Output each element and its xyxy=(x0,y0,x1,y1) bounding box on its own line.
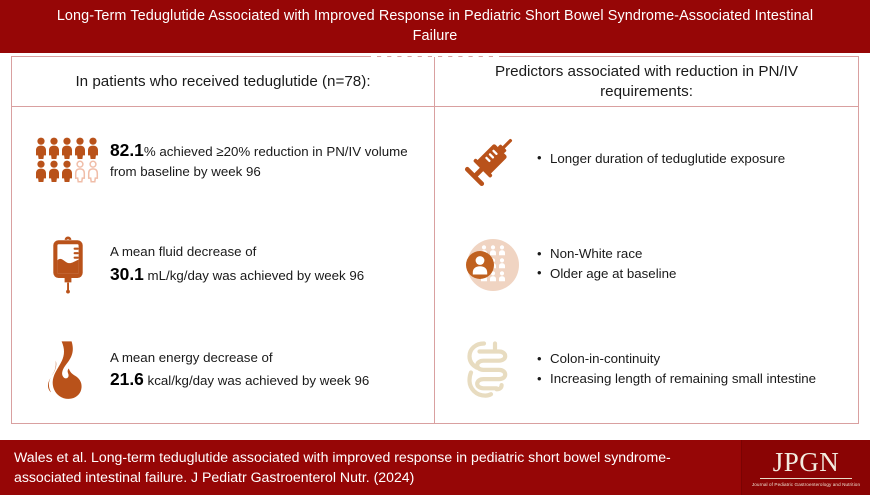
right-row-demographics-text: Non-White race Older age at baseline xyxy=(533,245,848,285)
intestine-icon xyxy=(449,339,533,401)
jpgn-logo-rule xyxy=(760,478,852,479)
right-row-demographics: Non-White race Older age at baseline xyxy=(435,212,858,317)
syringe-icon xyxy=(449,129,533,191)
right-row-duration: Longer duration of teduglutide exposure xyxy=(435,107,858,212)
right-column: Predictors associated with reduction in … xyxy=(435,57,858,423)
right-row-duration-text: Longer duration of teduglutide exposure xyxy=(533,150,848,170)
left-row-energy: A mean energy decrease of 21.6 kcal/kg/d… xyxy=(12,318,434,423)
content-panel: In patients who received teduglutide (n=… xyxy=(11,56,859,424)
left-row-energy-text: A mean energy decrease of 21.6 kcal/kg/d… xyxy=(110,349,424,393)
left-row-people: 82.1% achieved ≥20% reduction in PN/IV v… xyxy=(12,107,434,212)
population-person-icon xyxy=(449,235,533,295)
bullet-list-demographics: Non-White race Older age at baseline xyxy=(533,245,844,284)
energy-line1: A mean energy decrease of xyxy=(110,350,273,365)
stat-caption-fluid: mL/kg/day was achieved by week 96 xyxy=(144,268,364,283)
dashed-divider-artifact xyxy=(371,55,499,59)
jpgn-logo: JPGN Journal of Pediatric Gastroenterolo… xyxy=(741,440,870,495)
stat-caption-energy: kcal/kg/day was achieved by week 96 xyxy=(144,373,369,388)
right-column-body: Longer duration of teduglutide exposure xyxy=(435,107,858,423)
list-item: Older age at baseline xyxy=(550,265,844,284)
header-bar: Long-Term Teduglutide Associated with Im… xyxy=(0,0,870,53)
right-row-anatomy: Colon-in-continuity Increasing length of… xyxy=(435,318,858,423)
bullet-list-anatomy: Colon-in-continuity Increasing length of… xyxy=(533,350,844,389)
footer-bar: Wales et al. Long-term teduglutide assoc… xyxy=(0,440,870,495)
left-column: In patients who received teduglutide (n=… xyxy=(12,57,435,423)
bullet-list-duration: Longer duration of teduglutide exposure xyxy=(533,150,844,169)
list-item: Colon-in-continuity xyxy=(550,350,844,369)
jpgn-logo-subtitle: Journal of Pediatric Gastroenterology an… xyxy=(752,482,860,487)
left-column-heading-text: In patients who received teduglutide (n=… xyxy=(75,72,370,91)
right-row-anatomy-text: Colon-in-continuity Increasing length of… xyxy=(533,350,848,390)
stat-value-fluid: 30.1 xyxy=(110,264,144,284)
page-title: Long-Term Teduglutide Associated with Im… xyxy=(46,7,824,46)
right-column-header: Predictors associated with reduction in … xyxy=(435,57,858,107)
right-column-heading-text: Predictors associated with reduction in … xyxy=(451,62,842,101)
flame-icon xyxy=(26,340,110,400)
left-row-people-text: 82.1% achieved ≥20% reduction in PN/IV v… xyxy=(110,138,424,182)
list-item: Longer duration of teduglutide exposure xyxy=(550,150,844,169)
left-row-fluid-text: A mean fluid decrease of 30.1 mL/kg/day … xyxy=(110,243,424,287)
iv-bag-icon xyxy=(26,236,110,294)
left-column-header: In patients who received teduglutide (n=… xyxy=(12,57,434,107)
citation-text: Wales et al. Long-term teduglutide assoc… xyxy=(0,448,741,486)
stat-value-energy: 21.6 xyxy=(110,369,144,389)
stat-caption-percent: % achieved ≥20% reduction in PN/IV volum… xyxy=(110,144,408,179)
left-column-body: 82.1% achieved ≥20% reduction in PN/IV v… xyxy=(12,107,434,423)
jpgn-logo-wordmark: JPGN xyxy=(773,449,840,476)
list-item: Increasing length of remaining small int… xyxy=(550,370,844,389)
left-row-fluid: A mean fluid decrease of 30.1 mL/kg/day … xyxy=(12,212,434,317)
stat-value-percent: 82.1 xyxy=(110,140,144,160)
fluid-line1: A mean fluid decrease of xyxy=(110,244,256,259)
list-item: Non-White race xyxy=(550,245,844,264)
people-group-icon xyxy=(26,137,110,183)
